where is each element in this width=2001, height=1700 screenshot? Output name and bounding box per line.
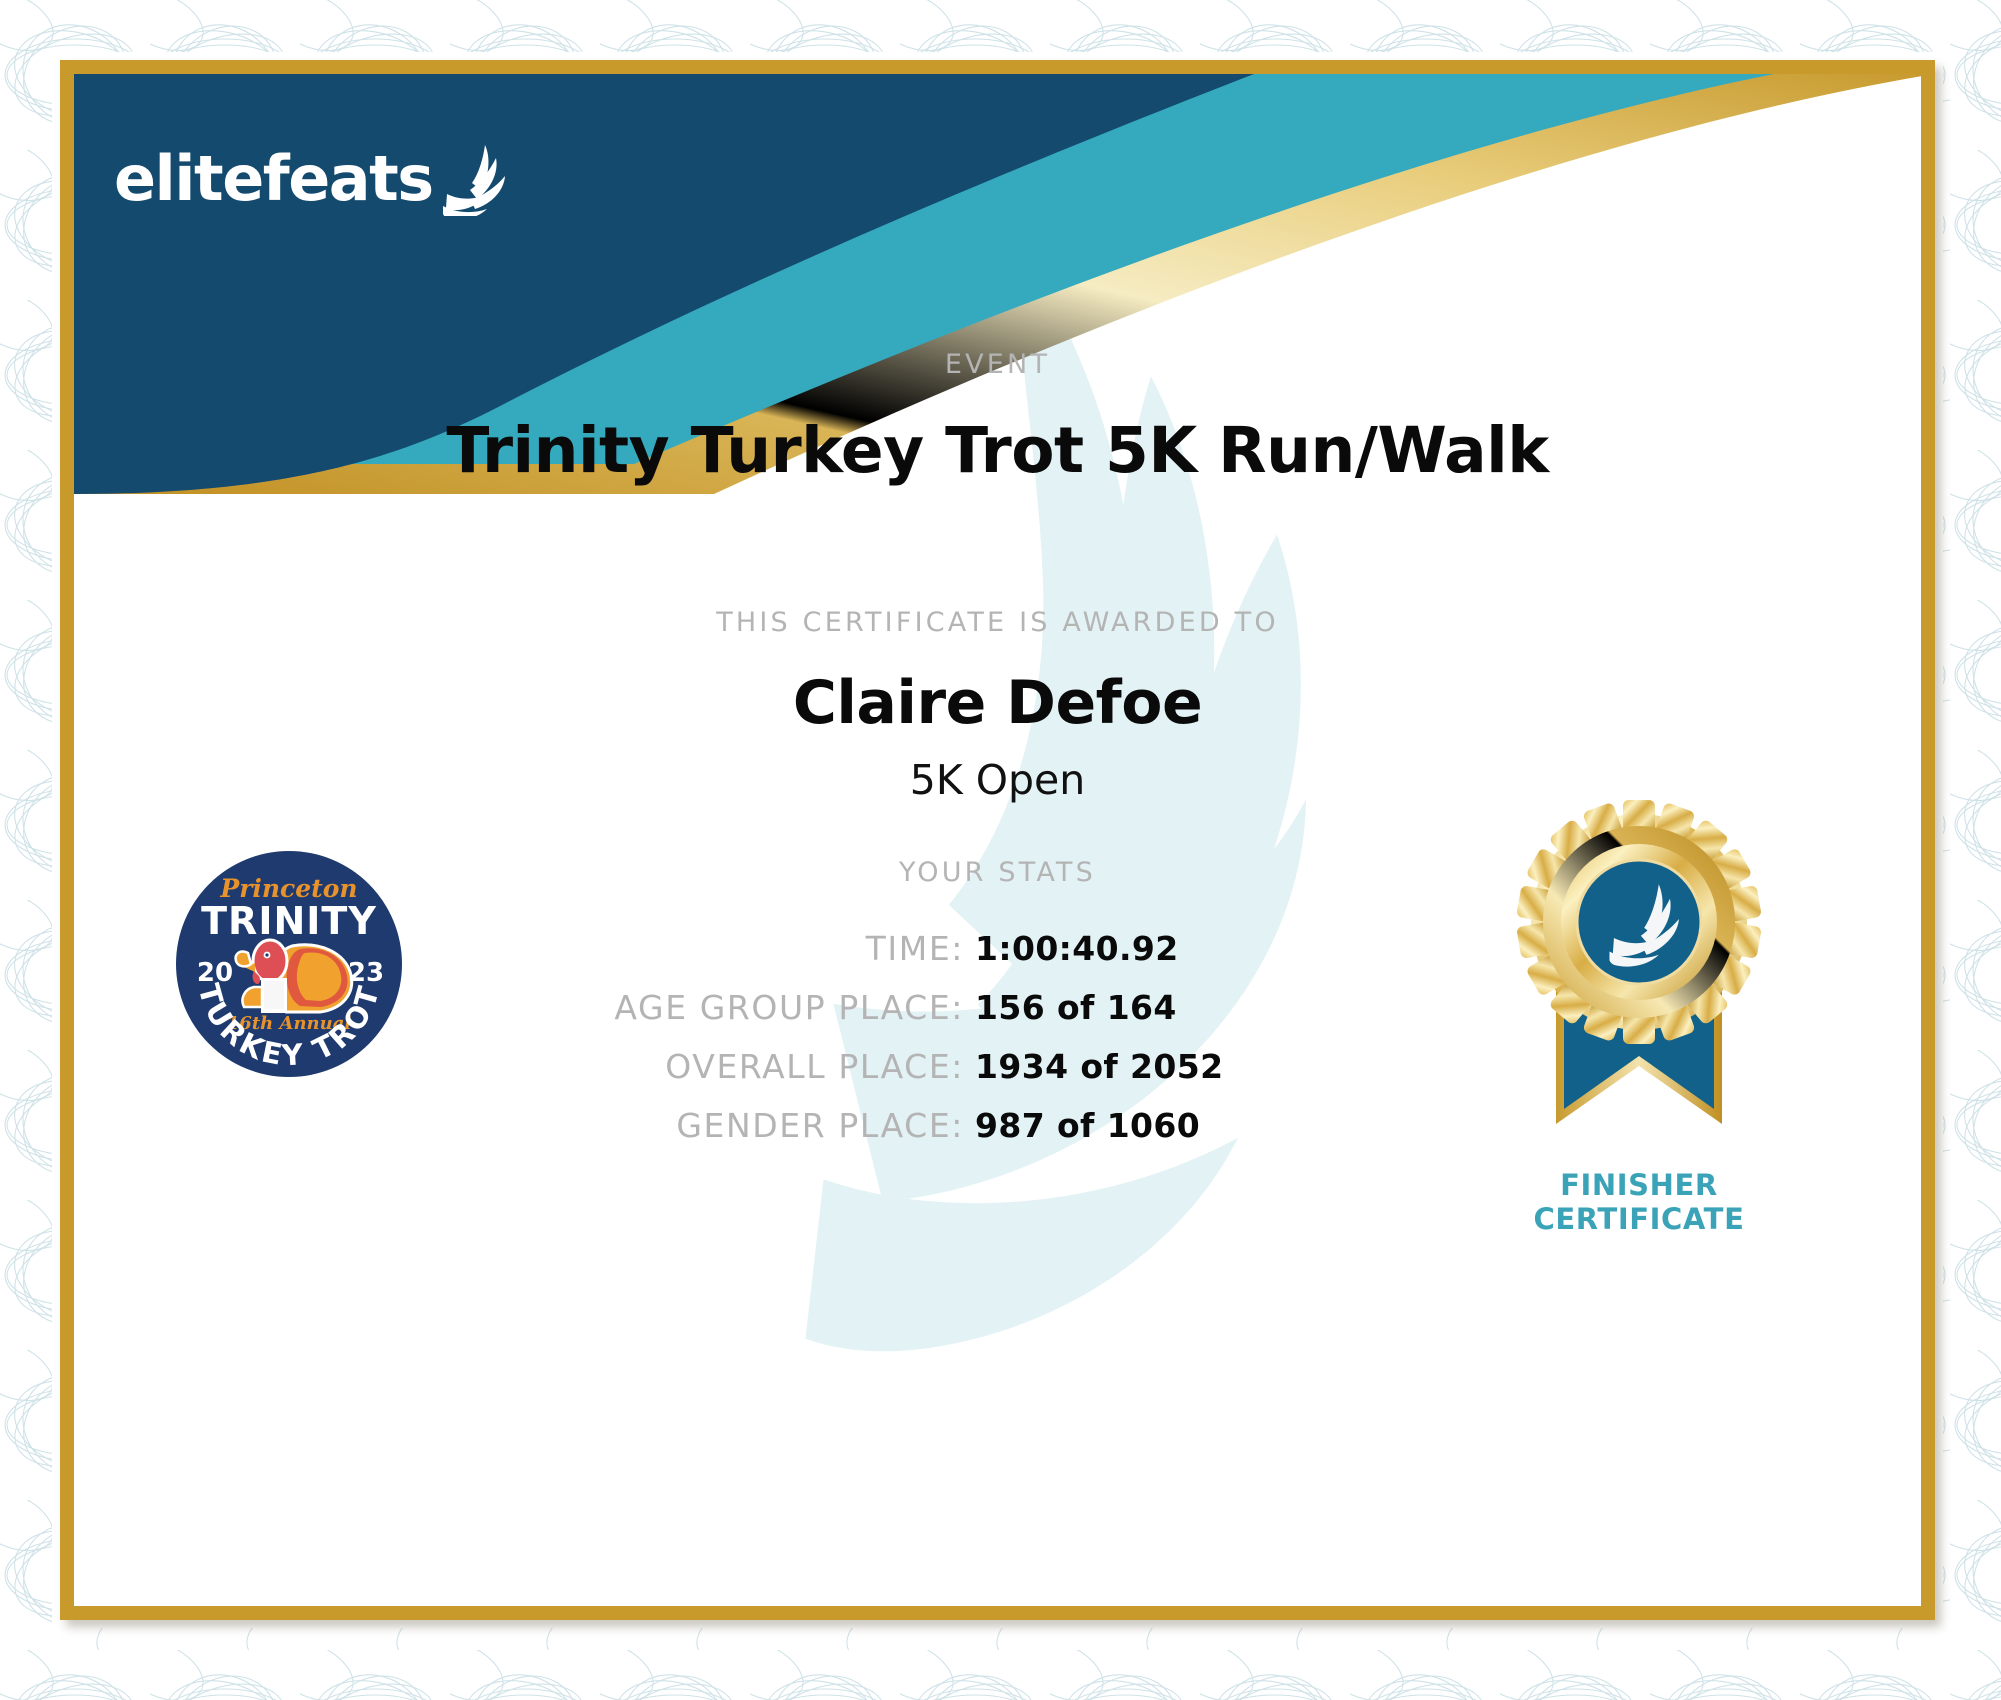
race-logo-badge: Princeton TRINITY 20 — [174, 849, 404, 1079]
stat-label: GENDER PLACE: — [74, 1106, 964, 1145]
seal-caption: FINISHER CERTIFICATE — [1479, 1169, 1799, 1236]
stat-value: 1934 of 2052 — [975, 1047, 1224, 1086]
stat-value: 987 of 1060 — [975, 1106, 1200, 1145]
seal-medallion — [1516, 800, 1762, 1044]
stat-value: 156 of 164 — [975, 988, 1177, 1027]
recipient-name: Claire Defoe — [74, 668, 1921, 738]
badge-main-text: TRINITY — [201, 899, 377, 943]
seal-caption-line1: FINISHER — [1479, 1169, 1799, 1203]
winged-foot-icon — [439, 142, 509, 216]
certificate-page: elitefeats EVENT Trinity Turke — [0, 0, 2001, 1700]
event-label: EVENT — [74, 349, 1921, 380]
seal-caption-line2: CERTIFICATE — [1479, 1203, 1799, 1237]
event-title: Trinity Turkey Trot 5K Run/Walk — [74, 414, 1921, 487]
awarded-section: THIS CERTIFICATE IS AWARDED TO Claire De… — [74, 607, 1921, 804]
stat-value: 1:00:40.92 — [975, 929, 1179, 968]
finisher-medal-seal: 2023 — [1504, 794, 1774, 1204]
gold-certificate-frame: elitefeats EVENT Trinity Turke — [60, 60, 1935, 1620]
elitefeats-logo: elitefeats — [114, 142, 509, 216]
event-section: EVENT Trinity Turkey Trot 5K Run/Walk — [74, 349, 1921, 487]
stat-row-gender-place: GENDER PLACE: 987 of 1060 — [74, 1106, 1374, 1145]
awarded-to-label: THIS CERTIFICATE IS AWARDED TO — [74, 607, 1921, 638]
brand-name: elitefeats — [114, 148, 433, 210]
